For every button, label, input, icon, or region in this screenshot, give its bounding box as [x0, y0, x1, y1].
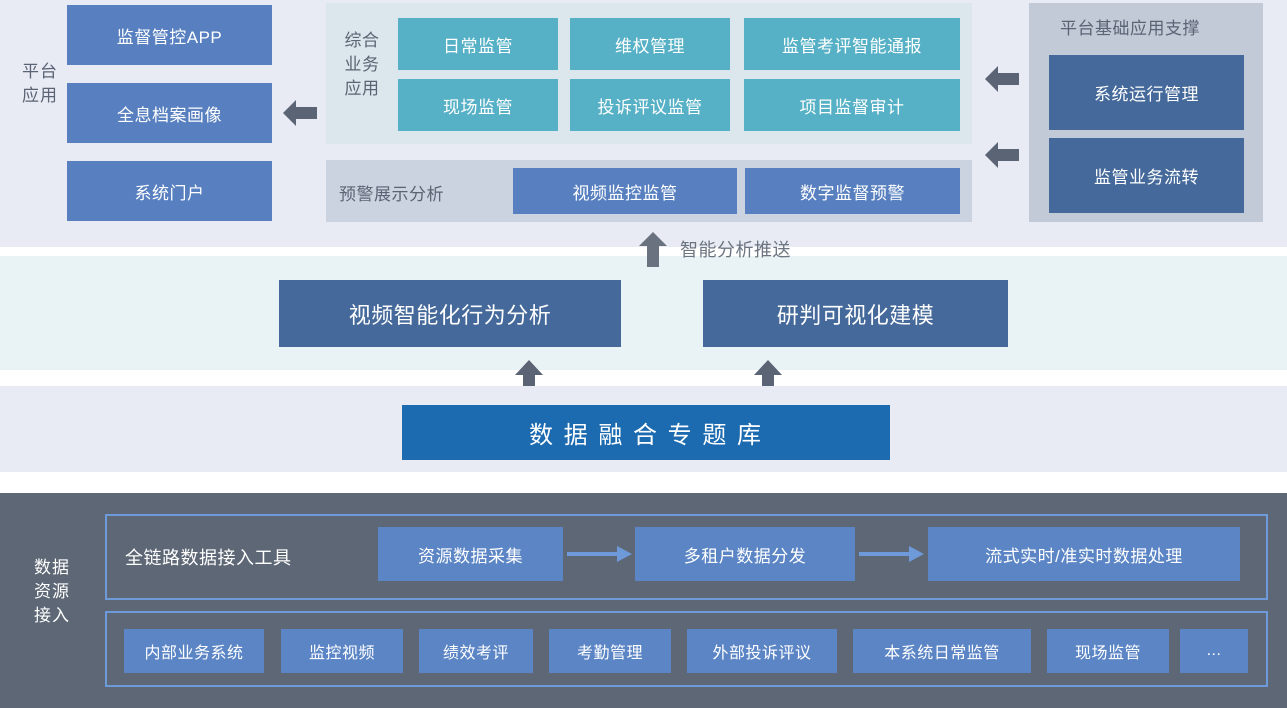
data-source-box[interactable]: 监控视频 — [281, 629, 403, 673]
pipeline-step-label: 多租户数据分发 — [684, 542, 807, 567]
business-app-label: 日常监管 — [443, 32, 513, 57]
business-app-label: 投诉评议监管 — [598, 93, 703, 118]
business-app-box[interactable]: 投诉评议监管 — [570, 79, 730, 131]
data-source-label: 考勤管理 — [577, 639, 643, 663]
arrow-right-icon — [859, 545, 924, 563]
business-app-box[interactable]: 监管考评智能通报 — [744, 18, 960, 70]
warning-analysis-panel-title: 预警展示分析 — [339, 180, 444, 205]
business-app-label: 项目监督审计 — [800, 93, 905, 118]
data-source-side-label: 数据资源接入 — [26, 556, 78, 628]
base-support-label: 监管业务流转 — [1094, 163, 1199, 188]
analysis-module-label: 视频智能化行为分析 — [349, 298, 552, 330]
analysis-module-box[interactable]: 研判可视化建模 — [703, 280, 1008, 347]
base-support-box[interactable]: 监管业务流转 — [1049, 138, 1244, 213]
base-support-box[interactable]: 系统运行管理 — [1049, 55, 1244, 130]
data-source-box[interactable]: 绩效考评 — [419, 629, 533, 673]
warning-analysis-label: 视频监控监管 — [573, 179, 678, 204]
data-source-box[interactable]: ... — [1180, 629, 1248, 673]
base-support-label: 系统运行管理 — [1094, 80, 1199, 105]
analysis-module-box[interactable]: 视频智能化行为分析 — [279, 280, 621, 347]
platform-app-box[interactable]: 监督管控APP — [67, 5, 272, 65]
analysis-module-label: 研判可视化建模 — [777, 298, 935, 330]
platform-app-box[interactable]: 系统门户 — [67, 161, 272, 221]
pipeline-step-box[interactable]: 资源数据采集 — [378, 527, 563, 581]
arrow-left-icon — [985, 140, 1019, 170]
intelligent-analysis-band — [0, 256, 1287, 370]
business-application-panel-title: 综合业务应用 — [340, 29, 384, 101]
business-app-label: 现场监管 — [443, 93, 513, 118]
architecture-diagram: 平台应用 监督管控APP 全息档案画像 系统门户 综合业务应用 日常监管 维权管… — [0, 0, 1287, 708]
data-source-box[interactable]: 外部投诉评议 — [687, 629, 837, 673]
pipeline-step-box[interactable]: 多租户数据分发 — [635, 527, 855, 581]
platform-app-label: 全息档案画像 — [117, 101, 222, 126]
business-app-box[interactable]: 项目监督审计 — [744, 79, 960, 131]
business-app-box[interactable]: 日常监管 — [398, 18, 558, 70]
data-source-box[interactable]: 考勤管理 — [549, 629, 671, 673]
data-source-label: 监控视频 — [309, 639, 375, 663]
arrow-left-icon — [283, 98, 317, 128]
platform-app-label: 系统门户 — [135, 179, 205, 204]
platform-app-label: 监督管控APP — [117, 23, 223, 48]
data-source-box[interactable]: 本系统日常监管 — [853, 629, 1031, 673]
pipeline-step-box[interactable]: 流式实时/准实时数据处理 — [928, 527, 1240, 581]
data-source-box[interactable]: 内部业务系统 — [124, 629, 264, 673]
pipeline-step-label: 流式实时/准实时数据处理 — [985, 542, 1183, 567]
business-app-label: 维权管理 — [615, 32, 685, 57]
warning-analysis-box[interactable]: 数字监督预警 — [745, 168, 960, 214]
data-pipeline-title: 全链路数据接入工具 — [125, 536, 365, 578]
arrow-up-icon — [638, 232, 668, 267]
business-app-label: 监管考评智能通报 — [782, 32, 922, 57]
base-support-panel-title: 平台基础应用支撑 — [1060, 14, 1200, 39]
data-pipeline-title-label: 全链路数据接入工具 — [125, 544, 292, 570]
arrow-left-icon — [985, 64, 1019, 94]
data-source-label: 外部投诉评议 — [712, 639, 811, 663]
warning-analysis-label: 数字监督预警 — [800, 179, 905, 204]
data-source-label: 本系统日常监管 — [884, 639, 1000, 663]
data-source-box[interactable]: 现场监管 — [1047, 629, 1169, 673]
data-source-label: ... — [1207, 642, 1222, 660]
arrow-right-icon — [567, 545, 632, 563]
business-app-box[interactable]: 维权管理 — [570, 18, 730, 70]
data-fusion-library-label: 数 据 融 合 专 题 库 — [529, 415, 763, 450]
platform-application-side-label: 平台应用 — [20, 60, 60, 108]
warning-analysis-box[interactable]: 视频监控监管 — [513, 168, 737, 214]
business-app-box[interactable]: 现场监管 — [398, 79, 558, 131]
pipeline-step-label: 资源数据采集 — [418, 542, 523, 567]
data-source-label: 绩效考评 — [443, 639, 509, 663]
intelligent-analysis-push-label: 智能分析推送 — [680, 236, 791, 262]
data-fusion-library-box[interactable]: 数 据 融 合 专 题 库 — [402, 405, 890, 460]
data-source-label: 现场监管 — [1075, 639, 1141, 663]
platform-app-box[interactable]: 全息档案画像 — [67, 83, 272, 143]
data-source-label: 内部业务系统 — [144, 639, 243, 663]
